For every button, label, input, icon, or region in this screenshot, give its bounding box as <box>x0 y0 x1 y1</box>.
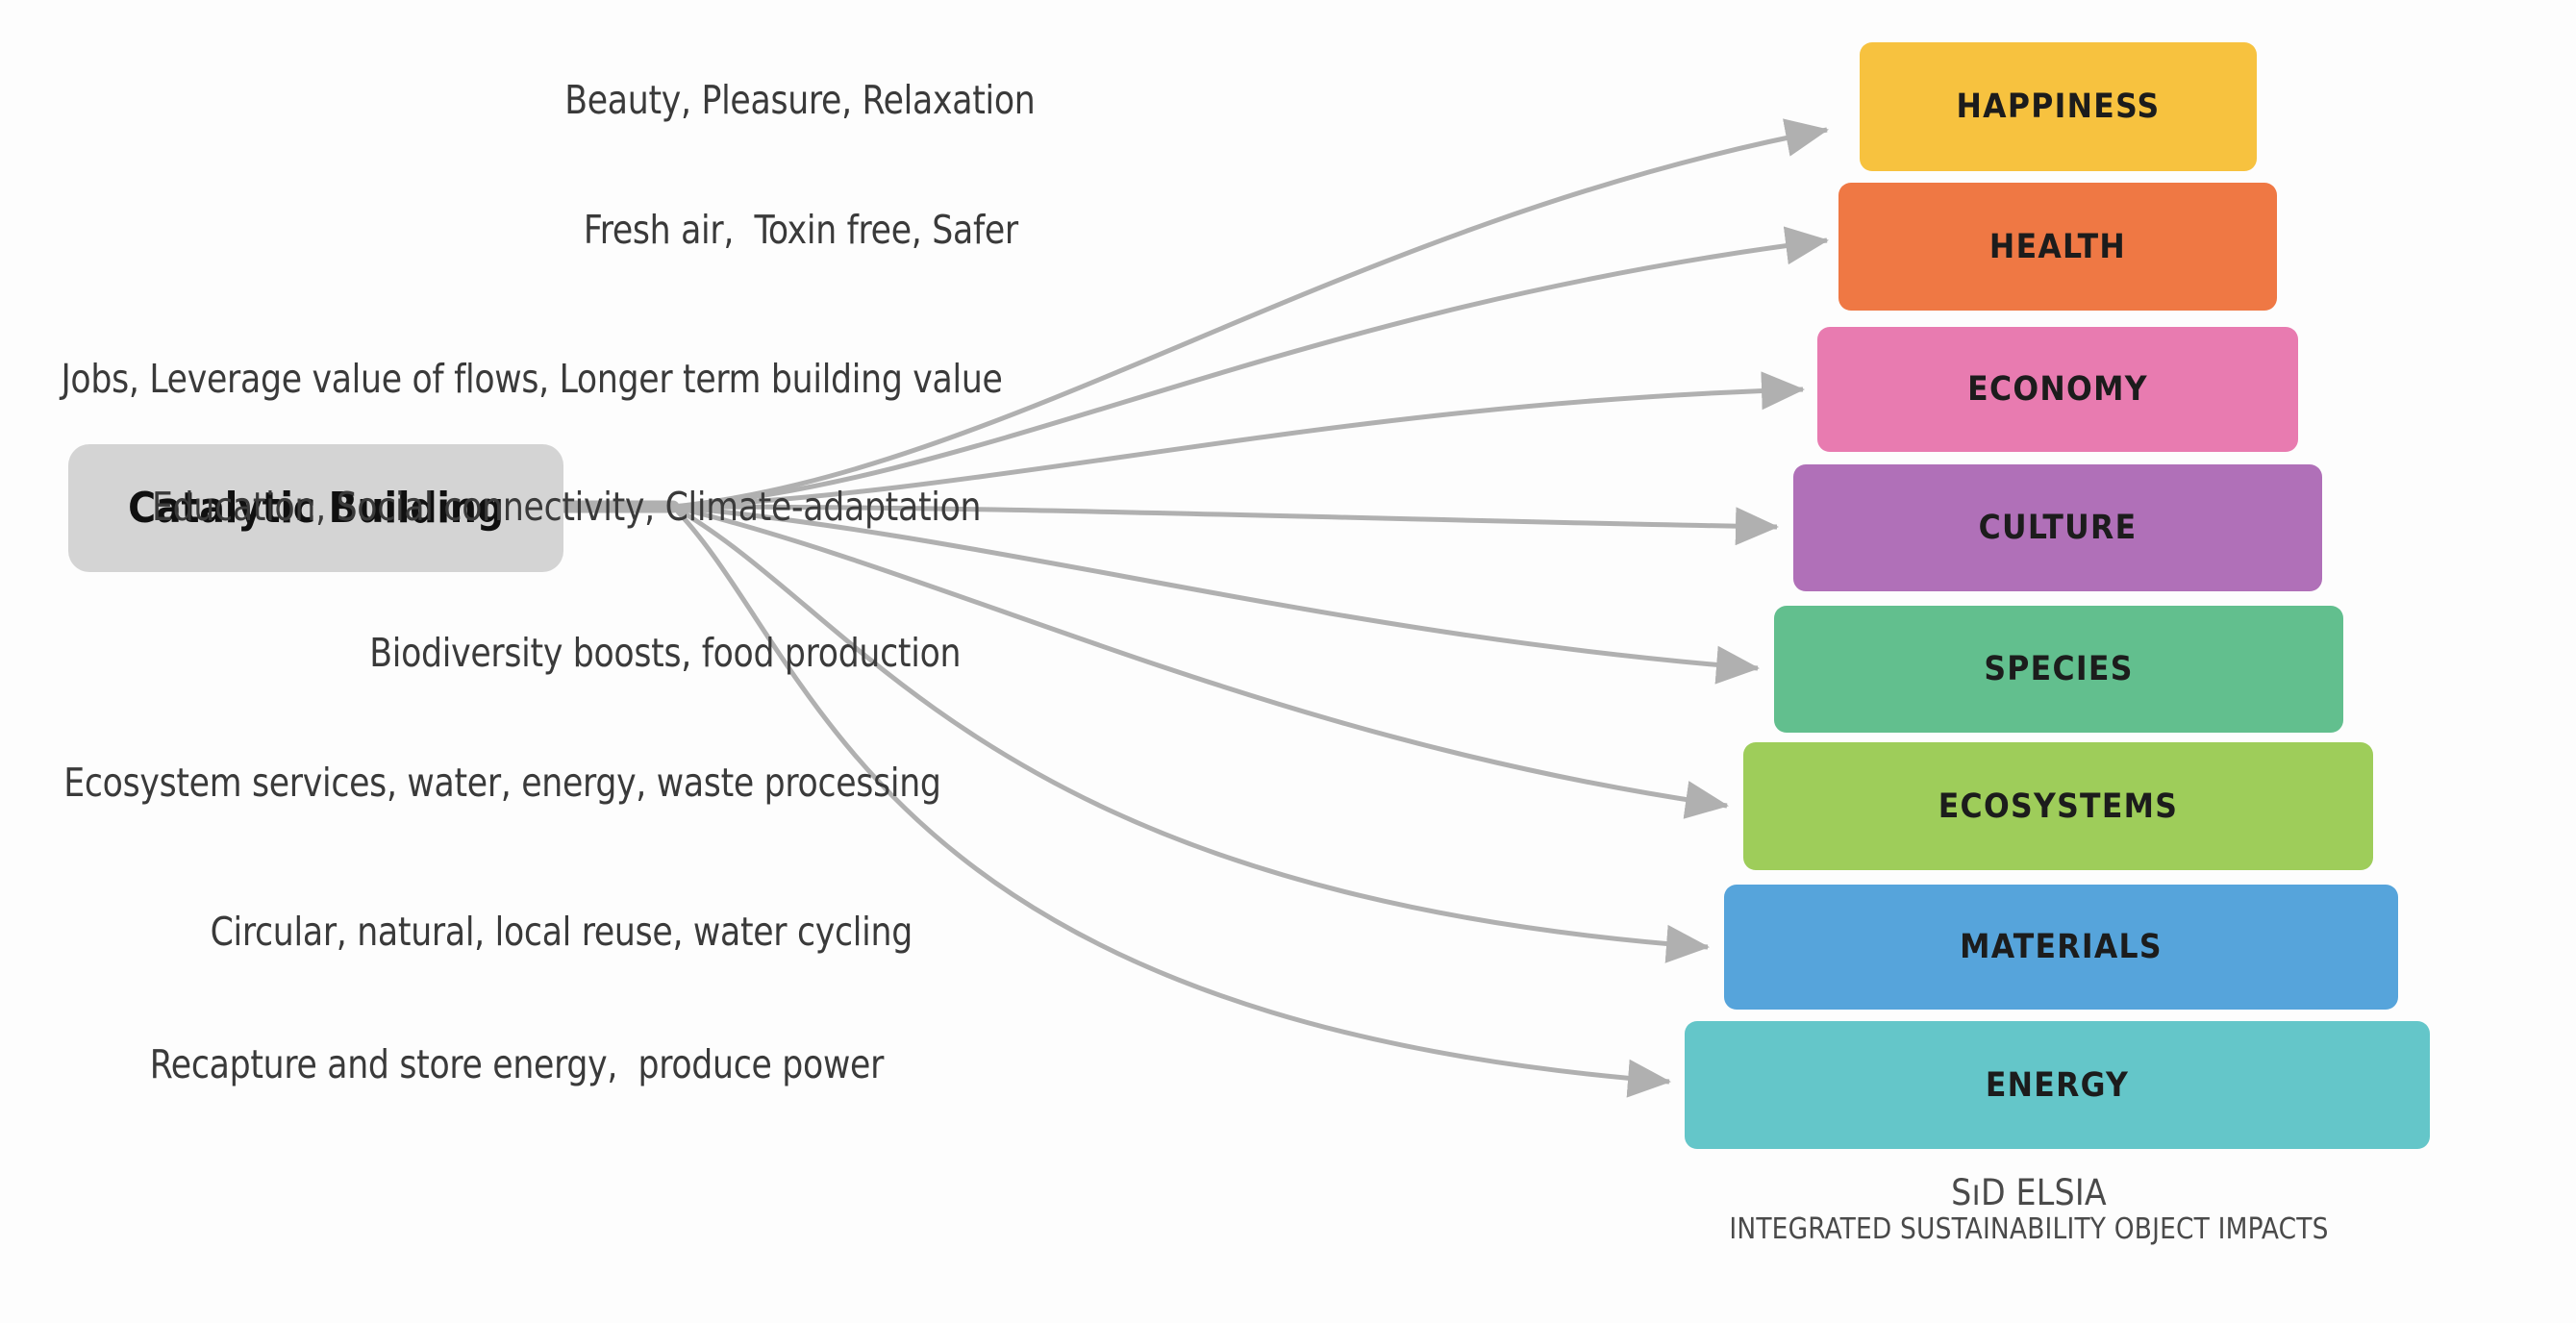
edge-happiness <box>673 130 1827 507</box>
pyramid-bar-economy[interactable]: ECONOMY <box>1817 327 2298 452</box>
pyramid-bar-label-materials: MATERIALS <box>1960 928 2163 966</box>
pyramid-bar-species[interactable]: SPECIES <box>1774 606 2343 733</box>
pyramid-bar-label-culture: CULTURE <box>1979 509 2138 547</box>
edge-label-economy: Jobs, Leverage value of flows, Longer te… <box>62 356 1003 402</box>
pyramid-bar-label-species: SPECIES <box>1984 650 2133 688</box>
edge-label-species: Biodiversity boosts, food production <box>369 630 961 676</box>
edge-label-energy: Recapture and store energy, produce powe… <box>150 1041 884 1087</box>
pyramid-bar-label-economy: ECONOMY <box>1967 370 2148 409</box>
pyramid-bar-label-happiness: HAPPINESS <box>1957 87 2161 126</box>
pyramid-bar-label-health: HEALTH <box>1989 228 2126 266</box>
pyramid-bar-health[interactable]: HEALTH <box>1838 183 2277 311</box>
caption-title: SıD ELSIA <box>1635 1175 2423 1212</box>
edge-label-ecosystems: Ecosystem services, water, energy, waste… <box>64 760 941 806</box>
edge-label-happiness: Beauty, Pleasure, Relaxation <box>564 77 1035 123</box>
pyramid-bar-materials[interactable]: MATERIALS <box>1724 885 2398 1010</box>
edge-materials <box>673 507 1708 947</box>
pyramid-bar-culture[interactable]: CULTURE <box>1793 464 2322 591</box>
pyramid-bar-label-ecosystems: ECOSYSTEMS <box>1938 787 2179 826</box>
pyramid-bar-ecosystems[interactable]: ECOSYSTEMS <box>1743 742 2373 870</box>
pyramid-bar-label-energy: ENERGY <box>1986 1066 2129 1105</box>
diagram-canvas: Catalytic Building Beauty, Pleasure, Rel… <box>0 0 2576 1323</box>
pyramid-bar-happiness[interactable]: HAPPINESS <box>1860 42 2257 171</box>
caption-block: SıD ELSIA INTEGRATED SUSTAINABILITY OBJE… <box>1635 1175 2423 1247</box>
caption-subtitle: INTEGRATED SUSTAINABILITY OBJECT IMPACTS <box>1642 1212 2415 1247</box>
edge-label-culture: Education, Social connectivity, Climate-… <box>152 484 981 530</box>
pyramid-bar-energy[interactable]: ENERGY <box>1685 1021 2430 1149</box>
edge-label-materials: Circular, natural, local reuse, water cy… <box>211 909 913 955</box>
edge-label-health: Fresh air, Toxin free, Safer <box>584 207 1018 253</box>
